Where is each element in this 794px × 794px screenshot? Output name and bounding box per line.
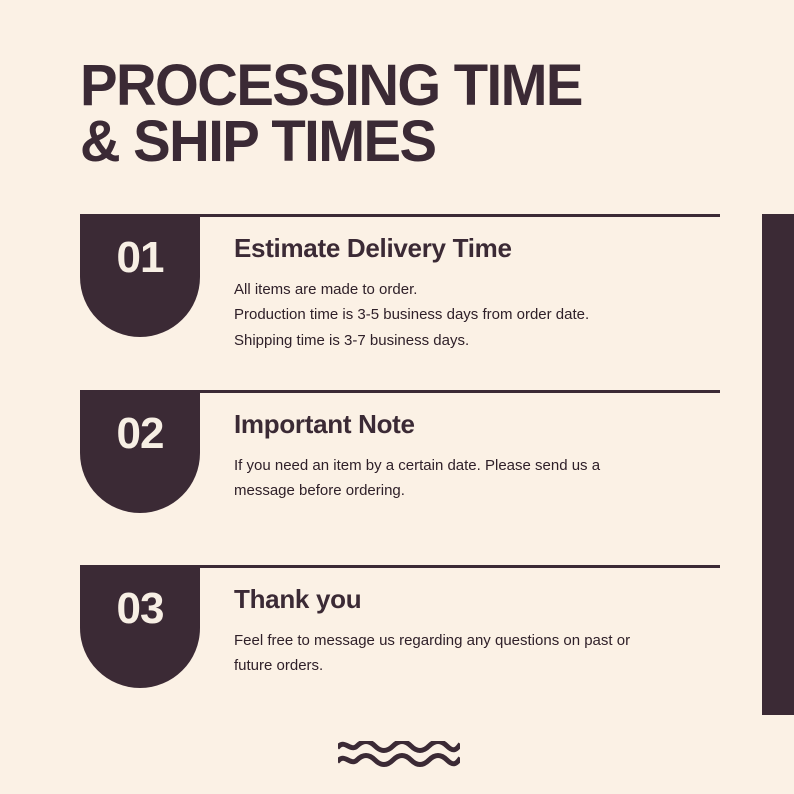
section-text-line: Production time is 3-5 business days fro…	[234, 302, 720, 328]
step-badge-01: 01	[80, 214, 200, 337]
section-heading-01: Estimate Delivery Time	[234, 234, 720, 263]
section-text-01: All items are made to order. Production …	[234, 277, 720, 354]
section-body-01: Estimate Delivery Time All items are mad…	[234, 234, 720, 354]
page-title: PROCESSING TIME & SHIP TIMES	[80, 58, 720, 169]
right-edge-bar	[762, 214, 794, 715]
step-number-01: 01	[117, 236, 164, 280]
step-badge-02: 02	[80, 390, 200, 513]
section-body-02: Important Note If you need an item by a …	[234, 410, 720, 504]
section-text-line: All items are made to order.	[234, 277, 720, 303]
poster-canvas: PROCESSING TIME & SHIP TIMES 01 Estimate…	[0, 0, 794, 794]
page-title-line-1: PROCESSING TIME	[80, 58, 701, 114]
step-badge-03: 03	[80, 565, 200, 688]
double-wave-icon	[338, 741, 460, 767]
section-text-line: If you need an item by a certain date. P…	[234, 453, 720, 479]
page-title-line-2: & SHIP TIMES	[80, 114, 701, 170]
section-text-line: Shipping time is 3-7 business days.	[234, 328, 720, 354]
section-text-line: future orders.	[234, 653, 720, 679]
step-number-02: 02	[117, 412, 164, 456]
section-heading-03: Thank you	[234, 585, 720, 614]
step-number-03: 03	[117, 587, 164, 631]
section-divider	[200, 214, 720, 217]
section-divider	[200, 565, 720, 568]
section-text-line: Feel free to message us regarding any qu…	[234, 628, 720, 654]
section-text-02: If you need an item by a certain date. P…	[234, 453, 720, 505]
section-heading-02: Important Note	[234, 410, 720, 439]
section-text-03: Feel free to message us regarding any qu…	[234, 628, 720, 680]
section-text-line: message before ordering.	[234, 478, 720, 504]
section-body-03: Thank you Feel free to message us regard…	[234, 585, 720, 679]
section-divider	[200, 390, 720, 393]
